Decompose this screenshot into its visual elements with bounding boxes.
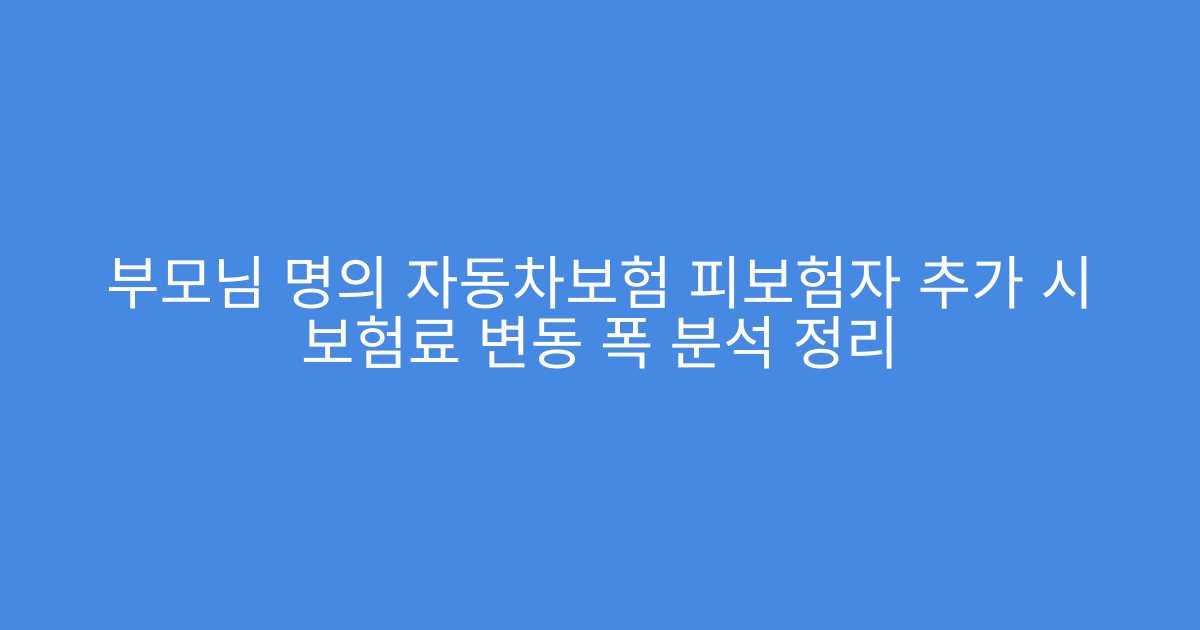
title-block: 부모님 명의 자동차보험 피보험자 추가 시 보험료 변동 폭 분석 정리 xyxy=(70,255,1130,375)
thumbnail-card: 부모님 명의 자동차보험 피보험자 추가 시 보험료 변동 폭 분석 정리 xyxy=(0,0,1200,630)
page-title: 부모님 명의 자동차보험 피보험자 추가 시 보험료 변동 폭 분석 정리 xyxy=(70,255,1130,375)
